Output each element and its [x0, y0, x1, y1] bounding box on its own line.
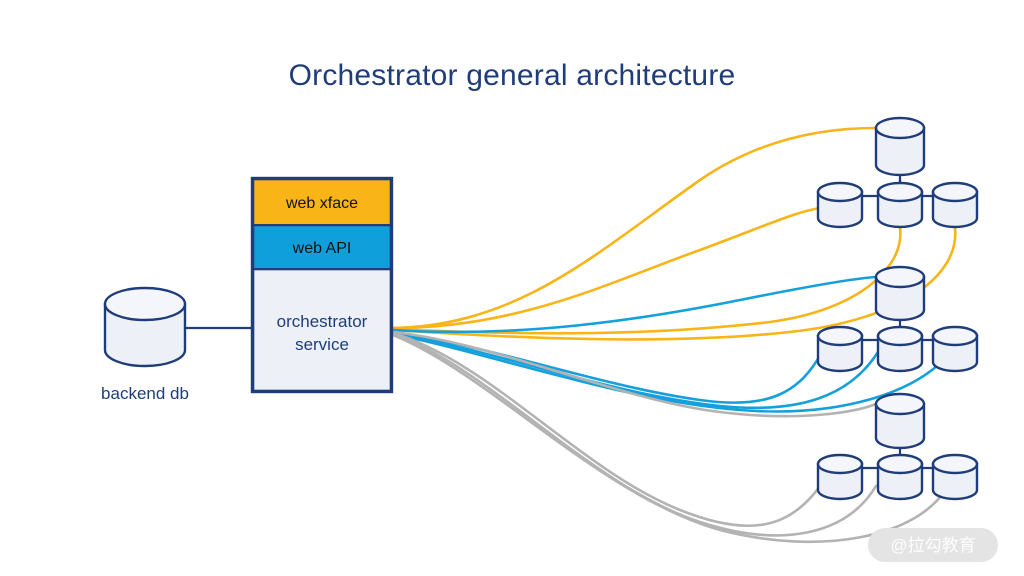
architecture-diagram: Orchestrator general architecture: [0, 0, 1024, 576]
web-api-label: web API: [292, 240, 352, 257]
middle-cluster-replica-1[interactable]: [818, 327, 862, 371]
replica-top-icon: [933, 327, 977, 345]
replica-top-icon: [878, 183, 922, 201]
middle-cluster-replica-2[interactable]: [878, 327, 922, 371]
web-xface-label: web xface: [285, 195, 358, 212]
replica-top-icon: [818, 183, 862, 201]
slide-canvas: Orchestrator general architecture: [0, 0, 1024, 576]
middle-cluster-replica-3[interactable]: [933, 327, 977, 371]
top-cluster-replica-2[interactable]: [878, 183, 922, 227]
top-cluster[interactable]: [818, 118, 977, 227]
bottom-cluster-replica-2[interactable]: [878, 455, 922, 499]
replica-top-icon: [878, 327, 922, 345]
middle-cluster[interactable]: [818, 267, 977, 371]
watermark-label: @拉勾教育: [890, 536, 975, 555]
backend-db-label: backend db: [101, 384, 189, 403]
page-title: Orchestrator general architecture: [289, 59, 736, 92]
master-top-icon: [876, 394, 924, 414]
orchestrator-service-label-line1: orchestrator: [277, 312, 368, 331]
orchestrator-box[interactable]: web xface web API orchestrator service: [252, 178, 392, 392]
bottom-cluster-replica-1[interactable]: [818, 455, 862, 499]
replica-top-icon: [818, 455, 862, 473]
flow-bottom-replica-3: [393, 335, 948, 542]
flow-group-middle-cluster: [393, 277, 950, 411]
master-top-icon: [876, 118, 924, 138]
top-cluster-replica-1[interactable]: [818, 183, 862, 227]
flow-group-bottom-cluster: [393, 332, 948, 542]
bottom-cluster-replica-3[interactable]: [933, 455, 977, 499]
flow-bottom-replica-1: [393, 333, 820, 526]
bottom-cluster-master[interactable]: [876, 394, 924, 448]
replica-top-icon: [933, 455, 977, 473]
bottom-cluster[interactable]: [818, 394, 977, 499]
flow-group-top-cluster: [393, 128, 955, 339]
replica-top-icon: [818, 327, 862, 345]
watermark: @拉勾教育: [868, 528, 998, 562]
top-cluster-master[interactable]: [876, 118, 924, 175]
top-cluster-replica-3[interactable]: [933, 183, 977, 227]
replica-top-icon: [933, 183, 977, 201]
flow-top-master: [393, 128, 876, 328]
master-top-icon: [876, 267, 924, 287]
replica-top-icon: [878, 455, 922, 473]
flow-curves-layer: [393, 128, 955, 542]
backend-db-top-icon: [105, 288, 185, 320]
flow-middle-replica-3: [393, 334, 950, 411]
backend-db-node[interactable]: backend db: [101, 288, 252, 403]
flow-top-replica-1: [393, 208, 822, 328]
middle-cluster-master[interactable]: [876, 267, 924, 320]
orchestrator-service-label-line2: service: [295, 335, 349, 354]
